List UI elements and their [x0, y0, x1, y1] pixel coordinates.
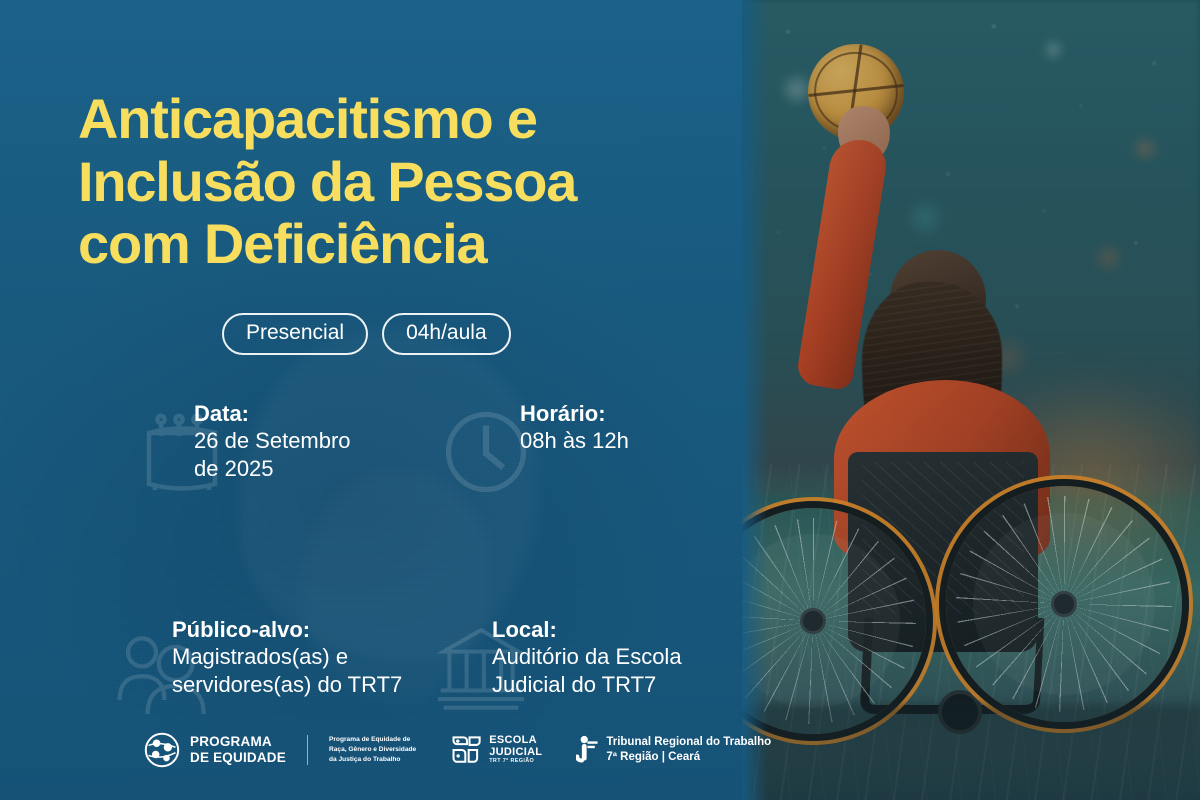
- equidade-tagline-line2: Raça, Gênero e Diversidade: [329, 745, 416, 755]
- info-label-time: Horário:: [520, 400, 720, 427]
- logo-trt7: Tribunal Regional do Trabalho 7ª Região …: [576, 735, 771, 765]
- floor-reflection: [742, 704, 1200, 800]
- info-block-location: Local: Auditório da Escola Judicial do T…: [420, 616, 720, 699]
- equidade-wordmark: PROGRAMA DE EQUIDADE: [190, 734, 286, 765]
- info-value-date-line1: 26 de Setembro: [194, 427, 420, 455]
- trt-word-line2: 7ª Região | Ceará: [606, 750, 771, 765]
- info-label-date: Data:: [194, 400, 420, 427]
- wheel-hub: [1051, 591, 1077, 617]
- equity-circle-icon: [144, 732, 180, 768]
- equidade-word-line2: DE EQUIDADE: [190, 750, 286, 766]
- title-line-2: Inclusão da Pessoa: [78, 151, 718, 214]
- wheel-spokes: [742, 518, 916, 724]
- wheelchair-basketball-photo: [742, 0, 1200, 800]
- event-poster: Anticapacitismo e Inclusão da Pessoa com…: [0, 0, 1200, 800]
- info-block-time: Horário: 08h às 12h: [420, 400, 720, 483]
- escola-judicial-wordmark: ESCOLA JUDICIAL TRT 7ª REGIÃO: [489, 735, 542, 765]
- info-block-audience: Público-alvo: Magistrados(as) e servidor…: [120, 616, 420, 699]
- info-block-date: Data: 26 de Setembro de 2025: [120, 400, 420, 483]
- info-value-audience-line1: Magistrados(as) e: [172, 643, 420, 671]
- logo-programa-equidade: PROGRAMA DE EQUIDADE Programa de Equidad…: [144, 732, 416, 768]
- info-value-date-line2: de 2025: [194, 455, 420, 483]
- info-label-audience: Público-alvo:: [172, 616, 420, 643]
- info-value-time-line1: 08h às 12h: [520, 427, 720, 455]
- status-badge-duration: 04h/aula: [382, 313, 511, 355]
- equidade-tagline-line3: da Justiça do Trabalho: [329, 755, 416, 765]
- info-value-location-line2: Judicial do TRT7: [492, 671, 720, 699]
- event-details-row-top: Data: 26 de Setembro de 2025 Horário: 08…: [120, 400, 730, 483]
- info-text-date: Data: 26 de Setembro de 2025: [120, 400, 420, 483]
- wheel-hub: [800, 608, 826, 634]
- footer-logo-bar: PROGRAMA DE EQUIDADE Programa de Equidad…: [144, 732, 771, 768]
- escola-judicial-icon: [450, 734, 484, 766]
- page-title: Anticapacitismo e Inclusão da Pessoa com…: [78, 88, 718, 276]
- footer-divider: [307, 735, 308, 765]
- info-label-location: Local:: [492, 616, 720, 643]
- equidade-tagline: Programa de Equidade de Raça, Gênero e D…: [329, 735, 416, 766]
- equidade-tagline-line1: Programa de Equidade de: [329, 735, 416, 745]
- info-text-time: Horário: 08h às 12h: [450, 400, 720, 455]
- title-line-1: Anticapacitismo e: [78, 88, 718, 151]
- title-line-3: com Deficiência: [78, 213, 718, 276]
- info-value-location-line1: Auditório da Escola: [492, 643, 720, 671]
- trt-figure-icon: [576, 735, 598, 765]
- status-badge-modality: Presencial: [222, 313, 368, 355]
- event-details-grid: Data: 26 de Setembro de 2025 Horário: 08…: [120, 400, 730, 698]
- trt-wordmark: Tribunal Regional do Trabalho 7ª Região …: [606, 735, 771, 765]
- event-details-row-bottom: Público-alvo: Magistrados(as) e servidor…: [120, 616, 730, 699]
- logo-escola-judicial: ESCOLA JUDICIAL TRT 7ª REGIÃO: [450, 734, 542, 766]
- info-text-location: Local: Auditório da Escola Judicial do T…: [440, 616, 720, 699]
- info-value-audience-line2: servidores(as) do TRT7: [172, 671, 420, 699]
- escola-word-line3: TRT 7ª REGIÃO: [489, 759, 542, 765]
- badge-group: Presencial 04h/aula: [222, 313, 511, 355]
- equidade-word-line1: PROGRAMA: [190, 734, 286, 750]
- trt-word-line1: Tribunal Regional do Trabalho: [606, 735, 771, 750]
- info-text-audience: Público-alvo: Magistrados(as) e servidor…: [120, 616, 420, 699]
- photo-scene: [742, 0, 1200, 800]
- wheelchair-wheel-right: [946, 486, 1182, 722]
